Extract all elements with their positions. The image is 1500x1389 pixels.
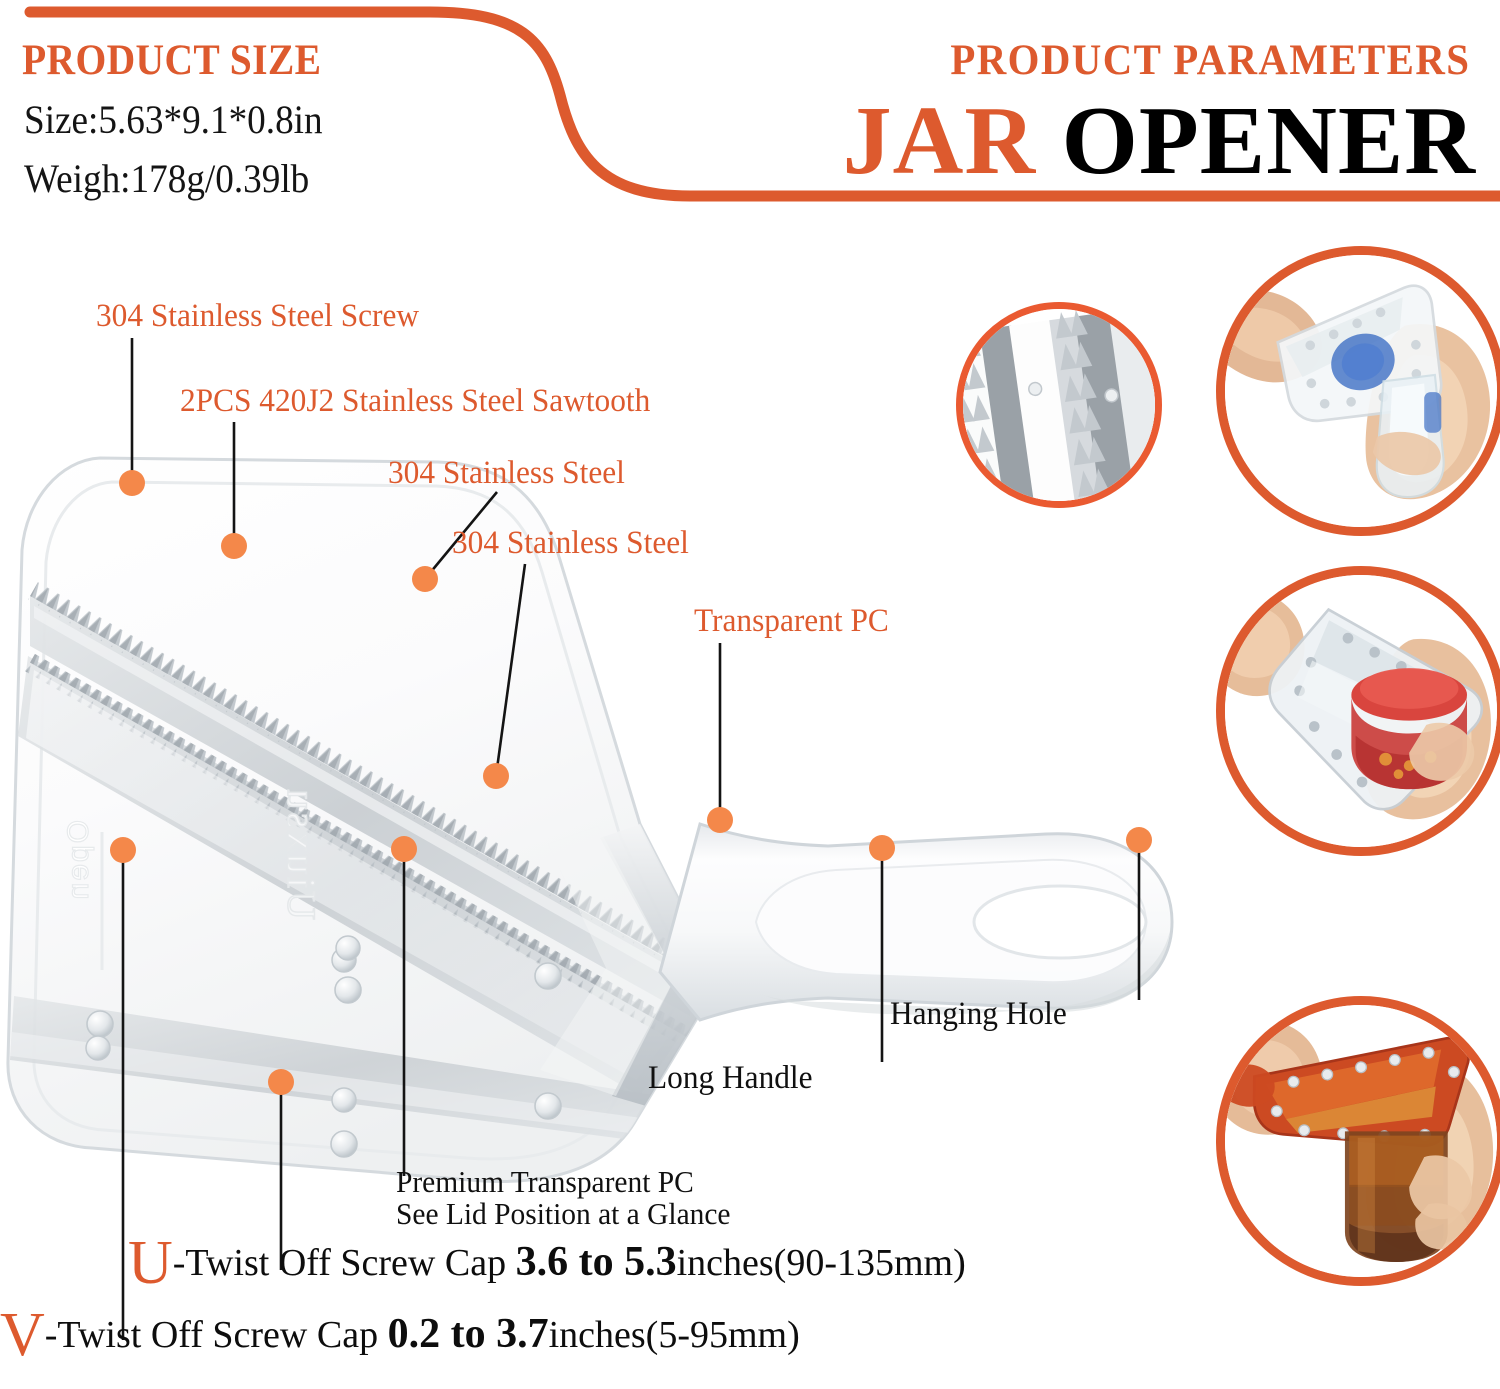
page-title-opener: OPENER: [1062, 87, 1476, 195]
svg-text:Uiuxsu: Uiuxsu: [279, 786, 324, 920]
brand-emboss: Uiuxsu: [279, 786, 324, 920]
callout-label-transparent-pc: Transparent PC: [694, 605, 889, 639]
spec-letter-v: V: [0, 1301, 45, 1369]
premium-pc-line-2: See Lid Position at a Glance: [396, 1198, 731, 1230]
photo-hands-opening-red-lid-jar: [1216, 566, 1500, 856]
callout-label-premium-pc: Premium Transparent PC See Lid Position …: [396, 1166, 731, 1229]
callout-label-sawtooth: 2PCS 420J2 Stainless Steel Sawtooth: [180, 385, 650, 419]
callout-label-screw: 304 Stainless Steel Screw: [96, 300, 419, 334]
premium-pc-line-1: Premium Transparent PC: [396, 1164, 694, 1199]
product-size-value: Size:5.63*9.1*0.8in: [24, 96, 323, 143]
product-weight-value: Weigh:178g/0.39lb: [24, 155, 309, 202]
sawtooth-grip-closeup-photo: [956, 302, 1162, 508]
photo-hands-opening-amber-jar: [1216, 996, 1500, 1286]
spec-u-range: 3.6 to 5.3: [516, 1239, 677, 1285]
spec-line-u: U-Twist Off Screw Cap 3.6 to 5.3inches(9…: [128, 1238, 966, 1286]
spec-letter-u: U: [128, 1229, 173, 1297]
spec-u-suffix: inches(90-135mm): [677, 1242, 966, 1284]
spec-v-suffix: inches(5-95mm): [549, 1314, 800, 1356]
spec-line-v: V-Twist Off Screw Cap 0.2 to 3.7inches(5…: [0, 1310, 800, 1358]
callout-label-long-handle: Long Handle: [648, 1062, 813, 1096]
callout-label-steel-2: 304 Stainless Steel: [452, 527, 689, 561]
product-parameters-heading: PRODUCT PARAMETERS: [950, 36, 1470, 85]
svg-text:Open: Open: [62, 820, 95, 901]
callout-label-steel-1: 304 Stainless Steel: [388, 457, 625, 491]
page-title-jar: JAR: [843, 87, 1037, 195]
spec-v-range: 0.2 to 3.7: [388, 1311, 549, 1357]
photo-hands-opening-water-bottle: [1216, 246, 1500, 536]
product-size-heading: PRODUCT SIZE: [22, 36, 321, 85]
spec-v-prefix: -Twist Off Screw Cap: [45, 1314, 388, 1356]
page-title: JAR OPENER: [843, 92, 1476, 190]
callout-label-hanging-hole: Hanging Hole: [890, 998, 1067, 1032]
spec-u-prefix: -Twist Off Screw Cap: [173, 1242, 516, 1284]
